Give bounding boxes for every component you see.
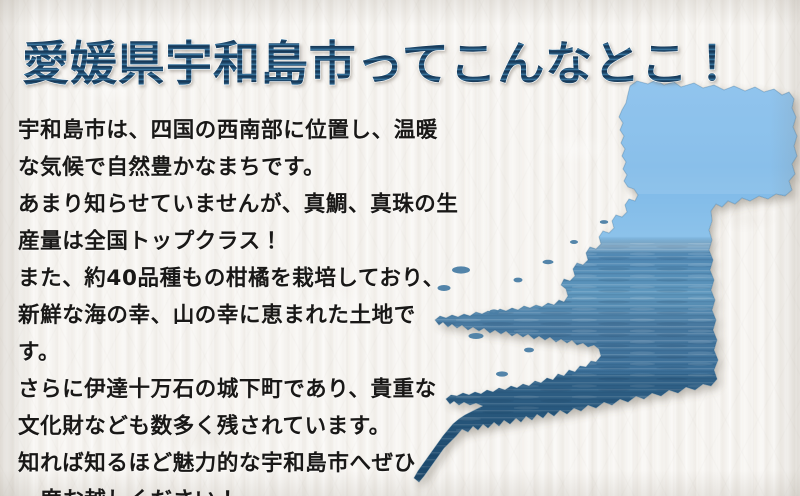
body-copy-line: す。 xyxy=(18,334,470,371)
page-title: 愛媛県宇和島市ってこんなとこ！ xyxy=(22,24,778,96)
title-glyphs: 愛媛県宇和島市ってこんなとこ！ xyxy=(22,37,736,92)
body-copy: 宇和島市は、四国の西南部に位置し、温暖な気候で自然豊かなまちです。あまり知らせて… xyxy=(18,112,470,496)
body-copy-line: な気候で自然豊かなまちです。 xyxy=(18,149,470,186)
body-copy-line: あまり知らせていませんが、真鯛、真珠の生 xyxy=(18,186,470,223)
body-copy-line: 宇和島市は、四国の西南部に位置し、温暖 xyxy=(18,112,470,149)
body-copy-line: 新鮮な海の幸、山の幸に恵まれた土地で xyxy=(18,297,470,334)
body-copy-line: 文化財なども数多く残されています。 xyxy=(18,408,470,445)
body-copy-line: 知れば知るほど魅力的な宇和島市へぜひ xyxy=(18,445,470,482)
body-copy-line: 産量は全国トップクラス！ xyxy=(18,223,470,260)
body-copy-line: 一度お越しください！ xyxy=(18,482,470,496)
body-copy-line: また、約40品種もの柑橘を栽培しており、 xyxy=(18,260,470,297)
body-copy-line: さらに伊達十万石の城下町であり、貴重な xyxy=(18,371,470,408)
uwajima-promo-banner: 愛媛県宇和島市ってこんなとこ！ 宇和島市は、四国の西南部に位置し、温暖な気候で自… xyxy=(0,0,800,496)
